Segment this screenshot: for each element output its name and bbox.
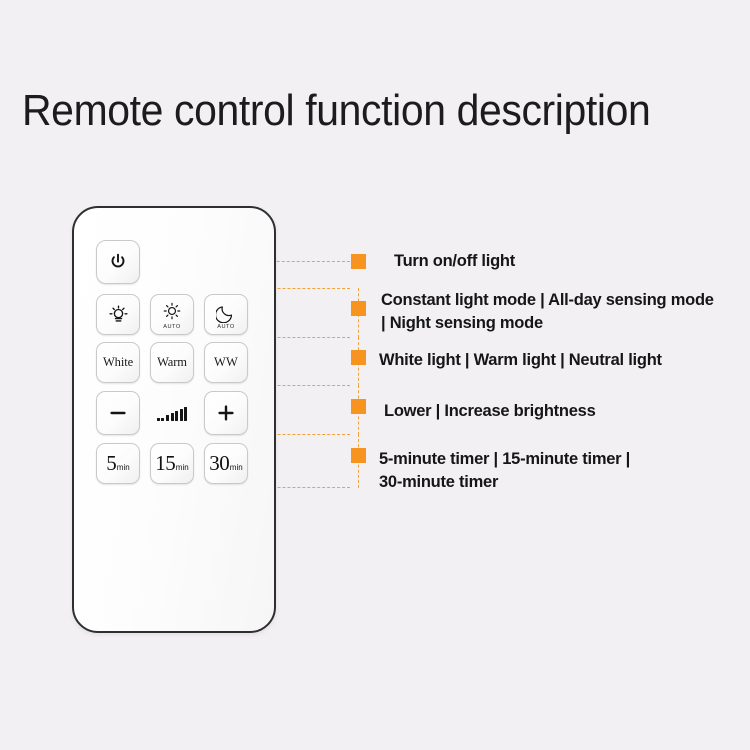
timer-15-value: 15 bbox=[155, 453, 175, 474]
callout-bullet-timer bbox=[351, 448, 366, 463]
all-day-sensing-mode-button[interactable]: AUTO bbox=[150, 294, 194, 335]
moon-icon-holder bbox=[205, 302, 247, 323]
callout-text-timer: 5-minute timer | 15-minute timer | 30-mi… bbox=[379, 448, 729, 494]
minus-icon bbox=[107, 402, 129, 424]
warm-light-button[interactable]: Warm bbox=[150, 342, 194, 383]
warm-light-label: Warm bbox=[157, 355, 187, 370]
constant-light-mode-button[interactable] bbox=[96, 294, 140, 335]
white-light-label: White bbox=[103, 355, 133, 370]
timer-30-minute-button[interactable]: 30 min bbox=[204, 443, 248, 484]
brightness-down-button[interactable] bbox=[96, 391, 140, 435]
callout-text-mode: Constant light mode | All-day sensing mo… bbox=[381, 289, 750, 335]
timer-5-minute-button[interactable]: 5 min bbox=[96, 443, 140, 484]
callout-bullet-power bbox=[351, 254, 366, 269]
all-day-sensing-auto-label: AUTO bbox=[151, 324, 193, 330]
power-button[interactable] bbox=[96, 240, 140, 284]
white-light-button[interactable]: White bbox=[96, 342, 140, 383]
page-title: Remote control function description bbox=[22, 86, 650, 136]
timer-15-unit: min bbox=[176, 464, 189, 472]
timer-15-minute-button[interactable]: 15 min bbox=[150, 443, 194, 484]
sun-icon-holder bbox=[151, 300, 193, 322]
plus-icon bbox=[215, 402, 237, 424]
callout-bullet-color bbox=[351, 350, 366, 365]
timer-5-wrap: 5 min bbox=[106, 453, 129, 474]
neutral-light-label: WW bbox=[214, 355, 238, 370]
timer-5-value: 5 bbox=[106, 453, 116, 474]
remote-control-body: AUTO AUTO White Warm WW bbox=[72, 206, 276, 633]
callout-bullet-brightness bbox=[351, 399, 366, 414]
sun-icon bbox=[161, 300, 183, 322]
timer-30-unit: min bbox=[230, 464, 243, 472]
callout-text-power: Turn on/off light bbox=[394, 250, 744, 273]
timer-5-unit: min bbox=[117, 464, 130, 472]
callout-bullet-mode bbox=[351, 301, 366, 316]
moon-icon bbox=[216, 302, 237, 323]
page-root: Remote control function description bbox=[0, 0, 750, 750]
brightness-up-button[interactable] bbox=[204, 391, 248, 435]
power-icon bbox=[108, 252, 128, 272]
callout-text-brightness: Lower | Increase brightness bbox=[384, 400, 734, 423]
lightbulb-icon bbox=[106, 302, 131, 327]
timer-15-wrap: 15 min bbox=[155, 453, 188, 474]
brightness-bars-icon bbox=[150, 405, 194, 421]
night-sensing-auto-label: AUTO bbox=[205, 324, 247, 330]
timer-30-value: 30 bbox=[209, 453, 229, 474]
timer-30-wrap: 30 min bbox=[209, 453, 242, 474]
night-sensing-mode-button[interactable]: AUTO bbox=[204, 294, 248, 335]
neutral-light-button[interactable]: WW bbox=[204, 342, 248, 383]
callout-text-color: White light | Warm light | Neutral light bbox=[379, 349, 749, 372]
